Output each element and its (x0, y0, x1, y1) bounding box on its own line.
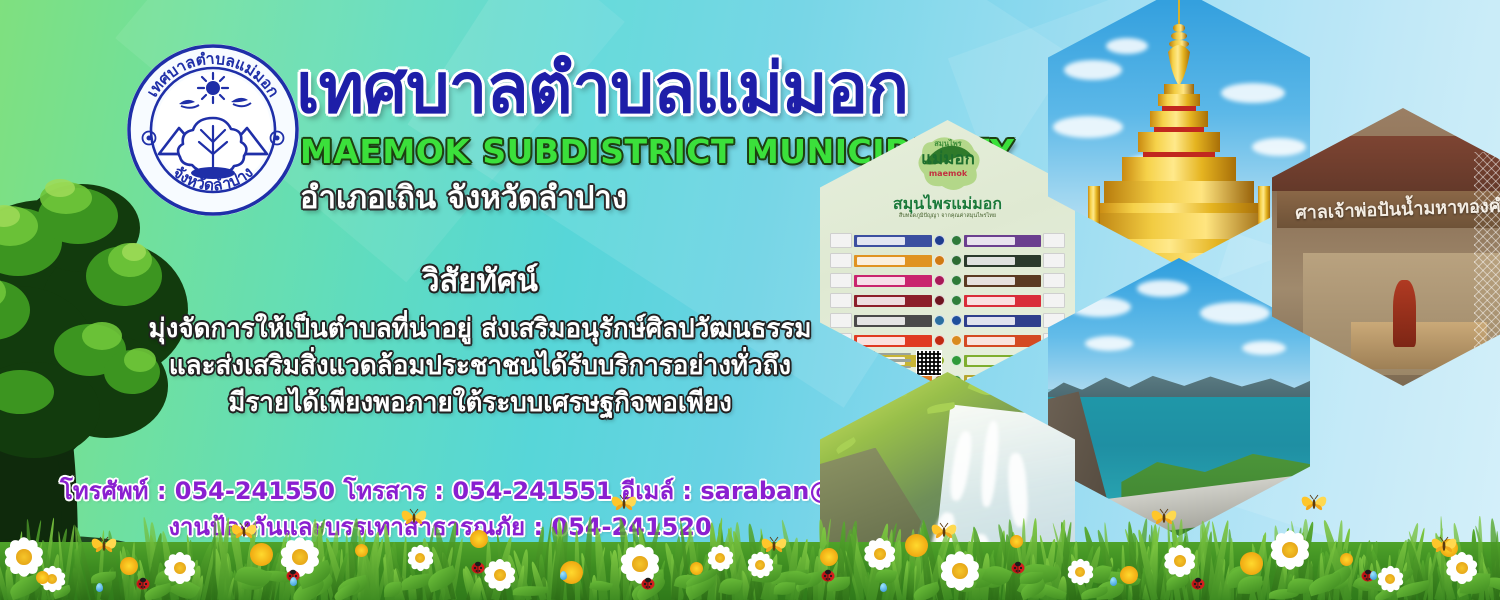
vision-heading: วิสัยทัศน์ (130, 255, 830, 305)
shrine-mesh-gate (1474, 152, 1500, 363)
yellow-flower (355, 544, 368, 557)
product-item (951, 312, 1066, 329)
pagoda-caption-sub1: บ้านทุ่ (1274, 7, 1304, 15)
pagoda-caption: วัดพ บ้านทุ่ อำเภ (1274, 0, 1304, 24)
product-item (830, 252, 945, 269)
product-item (951, 252, 1066, 269)
page-subtitle-district: อำเภอเถิน จังหวัดลำปาง (300, 172, 627, 222)
page-title-thai: เทศบาลตำบลแม่มอก (296, 55, 908, 124)
ladybug-icon (820, 567, 836, 586)
shrine-altar (1351, 322, 1487, 369)
water-drop-accent (290, 577, 297, 586)
butterfly-icon (610, 492, 638, 518)
poster-subtitle: สืบทอดภูมิปัญญา จากคุณค่าสมุนไพรไทย (820, 212, 1075, 220)
product-item (951, 232, 1066, 249)
water-drop-accent (560, 571, 567, 580)
product-item (830, 272, 945, 289)
yellow-flower (1340, 553, 1353, 566)
yellow-flower (36, 571, 49, 584)
yellow-flower (905, 534, 928, 557)
daisy-flower (1267, 527, 1313, 573)
product-item (951, 352, 1066, 369)
butterfly-icon (90, 534, 118, 560)
product-item (951, 332, 1066, 349)
municipality-seal-logo: เทศบาลตำบลแม่มอก จังหวัดลำปาง (125, 42, 301, 218)
product-item (830, 312, 945, 329)
yellow-flower (470, 530, 488, 548)
herb-logo-sub: maemok (928, 169, 967, 178)
product-item (830, 292, 945, 309)
daisy-flower (1065, 557, 1095, 587)
poster-footer (870, 350, 942, 376)
daisy-flower (705, 543, 735, 573)
water-drop-accent (1110, 577, 1117, 586)
vision-line-2: และส่งเสริมสิ่งแวดล้อมประชาชนได้รับบริกา… (130, 348, 830, 385)
qr-code (916, 350, 942, 376)
yellow-flower (1010, 535, 1023, 548)
herb-brand-logo: แม่มอก สมุนไพร maemok (902, 134, 994, 192)
product-item (830, 332, 945, 349)
daisy-flower (1375, 564, 1405, 594)
ladybug-icon (470, 559, 486, 578)
product-item (830, 232, 945, 249)
yellow-flower (690, 562, 703, 575)
yellow-flower (1240, 552, 1263, 575)
yellow-flower (250, 543, 273, 566)
ladybug-icon (135, 575, 151, 594)
butterfly-icon (400, 506, 428, 532)
butterfly-icon (1150, 506, 1178, 532)
butterfly-icon (1300, 492, 1328, 518)
pagoda-caption-main: วัดพ (1274, 0, 1304, 7)
dam-sky (1048, 258, 1310, 389)
hexagon-golden-pagoda[interactable]: วัดพ บ้านทุ่ อำเภ (1048, 0, 1310, 266)
yellow-flower (820, 548, 838, 566)
daisy-flower (161, 549, 199, 587)
daisy-flower (937, 548, 983, 594)
vision-line-3: มีรายได้เพียงพอภายใต้ระบบเศรษฐกิจพอเพียง (130, 385, 830, 422)
product-item (951, 292, 1066, 309)
grass-flower-border (0, 504, 1500, 600)
ladybug-icon (1010, 559, 1026, 578)
pagoda-caption-sub2: อำเภ (1274, 15, 1304, 23)
water-drop-accent (1370, 571, 1377, 580)
hexagon-reservoir-dam[interactable] (1048, 258, 1310, 536)
ladybug-icon (640, 575, 656, 594)
municipality-banner: เทศบาลตำบลแม่มอก จังหวัดลำปาง เทศบาลตำบล… (0, 0, 1500, 600)
pagoda-illustration (1048, 0, 1310, 266)
butterfly-icon (1430, 534, 1458, 560)
herb-product-grid (830, 232, 1065, 389)
water-drop-accent (880, 583, 887, 592)
yellow-flower (120, 557, 138, 575)
daisy-flower (861, 535, 899, 573)
product-item (951, 272, 1066, 289)
yellow-flower (1120, 566, 1138, 584)
butterfly-icon (930, 520, 958, 546)
butterfly-icon (760, 534, 788, 560)
daisy-flower (405, 543, 435, 573)
vision-statement: วิสัยทัศน์ มุ่งจัดการให้เป็นตำบลที่น่าอย… (130, 255, 830, 422)
butterfly-icon (230, 520, 258, 546)
shrine-statue (1393, 280, 1417, 347)
herb-logo-text: แม่มอก (921, 149, 975, 169)
ladybug-icon (1190, 575, 1206, 594)
vision-line-1: มุ่งจัดการให้เป็นตำบลที่น่าอยู่ ส่งเสริม… (130, 311, 830, 348)
water-drop-accent (96, 583, 103, 592)
herb-logo-top: สมุนไพร (934, 138, 962, 148)
daisy-flower (481, 556, 519, 594)
